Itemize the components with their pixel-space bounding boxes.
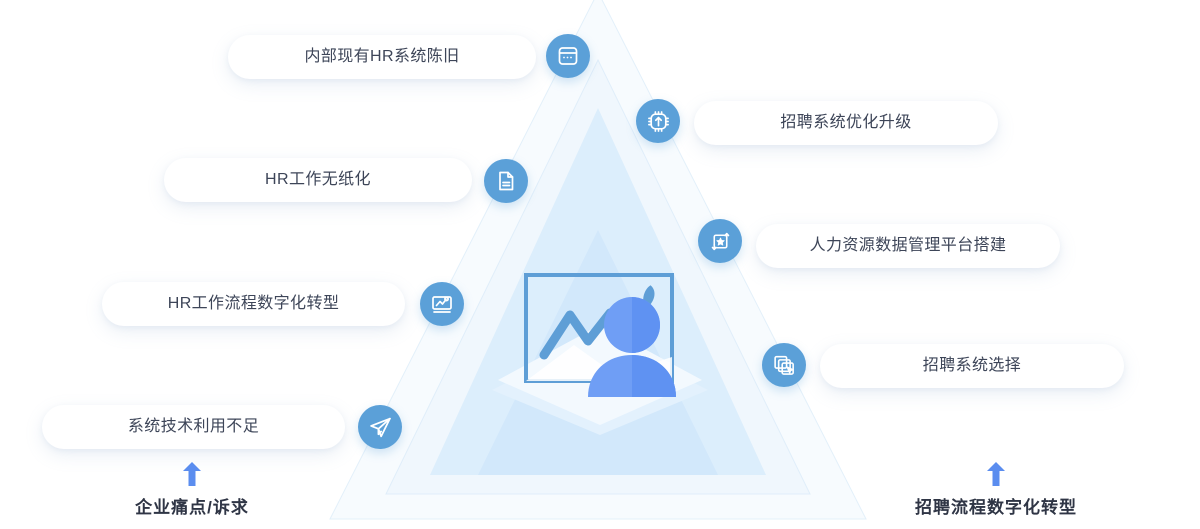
- pill-label: 招聘系统优化升级: [780, 115, 911, 131]
- multi-window-select-icon[interactable]: [762, 343, 806, 387]
- pill-internal-hr-system-outdated[interactable]: 内部现有HR系统陈旧: [228, 35, 536, 79]
- pill-label: 内部现有HR系统陈旧: [304, 49, 459, 65]
- person-body-shade: [632, 355, 676, 397]
- inner-triangle-highlight: [478, 230, 718, 475]
- pill-hr-paperless[interactable]: HR工作无纸化: [164, 158, 472, 202]
- caption-label: 企业痛点/诉求: [135, 498, 249, 518]
- platform-base-front: [498, 325, 702, 425]
- pill-insufficient-tech-utilization[interactable]: 系统技术利用不足: [42, 405, 345, 449]
- analytics-monitor-icon[interactable]: [420, 282, 464, 326]
- person-head: [604, 297, 660, 353]
- paper-plane-icon[interactable]: [358, 405, 402, 449]
- platform-inner-highlight: [526, 345, 672, 381]
- infographic-canvas: 内部现有HR系统陈旧 HR工作无纸化 HR工作流程数字化转型: [0, 0, 1200, 529]
- pill-label: 招聘系统选择: [923, 358, 1021, 374]
- arrow-up-icon: [986, 462, 1006, 486]
- chart-board: [526, 275, 672, 381]
- arrow-up-icon: [182, 462, 202, 486]
- pill-label: 人力资源数据管理平台搭建: [810, 238, 1007, 254]
- caption-recruitment-digital-transformation: 招聘流程数字化转型: [876, 462, 1116, 518]
- pill-label: 系统技术利用不足: [128, 419, 259, 435]
- data-platform-star-icon[interactable]: [698, 219, 742, 263]
- chart-line: [544, 313, 636, 355]
- pill-label: HR工作流程数字化转型: [168, 296, 340, 312]
- chart-accent-leaf: [641, 284, 656, 310]
- caption-label: 招聘流程数字化转型: [915, 498, 1077, 518]
- person-body: [588, 355, 676, 397]
- browser-window-icon[interactable]: [546, 34, 590, 78]
- caption-enterprise-pain-points: 企业痛点/诉求: [72, 462, 312, 518]
- person-shade: [632, 297, 660, 353]
- chip-upgrade-icon[interactable]: [636, 99, 680, 143]
- pill-label: HR工作无纸化: [265, 172, 371, 188]
- pill-hr-workflow-digital-transformation[interactable]: HR工作流程数字化转型: [102, 282, 405, 326]
- document-icon[interactable]: [484, 159, 528, 203]
- hr-analytics-illustration: [470, 215, 730, 445]
- pill-recruitment-system-selection[interactable]: 招聘系统选择: [820, 344, 1124, 388]
- pill-recruitment-system-upgrade[interactable]: 招聘系统优化升级: [694, 101, 998, 145]
- inner-triangle: [430, 108, 766, 475]
- pill-hr-data-platform[interactable]: 人力资源数据管理平台搭建: [756, 224, 1060, 268]
- platform-base-back: [492, 335, 708, 435]
